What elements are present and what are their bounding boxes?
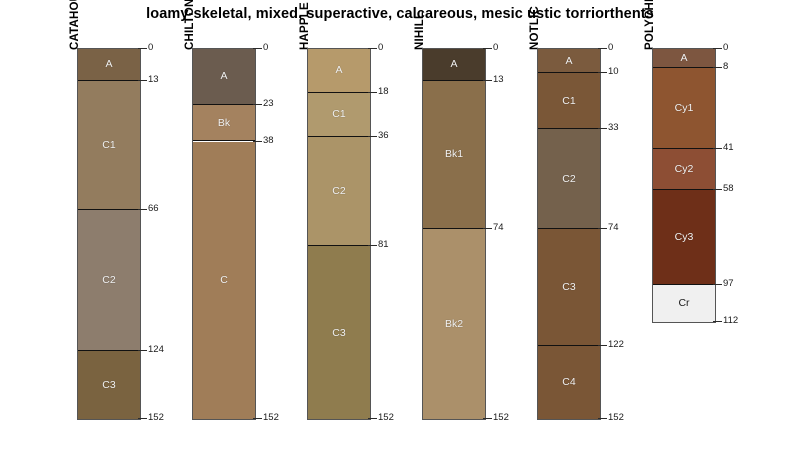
horizon-label: A [105,58,112,70]
depth-tick-label: 10 [608,66,619,77]
depth-tick [368,418,377,419]
depth-tick [598,345,607,346]
profile-name-label: HAPPLE [299,2,311,50]
horizon-cy2[interactable]: Cy2 [653,149,715,190]
depth-tick [368,136,377,137]
depth-tick [368,92,377,93]
depth-tick-label: 152 [608,412,624,423]
depth-tick [253,48,262,49]
horizon-a[interactable]: A [538,49,600,73]
depth-tick-label: 0 [723,42,728,53]
depth-tick-label: 97 [723,278,734,289]
depth-tick-label: 13 [493,74,504,85]
profile-name-label: NOTLIC [529,6,541,50]
depth-tick [713,284,722,285]
profile-column: ABk1Bk2 [422,48,486,420]
horizon-label: C2 [102,274,115,286]
horizon-label: C3 [102,379,115,391]
depth-tick [138,350,147,351]
depth-tick-label: 8 [723,61,728,72]
depth-tick-label: 0 [148,42,153,53]
depth-tick-label: 152 [263,412,279,423]
profile-name-label: POLYCHROME [644,0,656,50]
horizon-c[interactable]: C [193,142,255,420]
depth-tick-label: 74 [493,222,504,233]
horizon-label: A [680,52,687,64]
depth-tick-label: 122 [608,339,624,350]
depth-tick [713,148,722,149]
horizon-a[interactable]: A [423,49,485,81]
depth-tick [598,418,607,419]
horizon-label: C3 [332,327,345,339]
depth-tick-label: 112 [723,315,738,326]
depth-tick [483,228,492,229]
horizon-c2[interactable]: C2 [78,210,140,351]
depth-tick-label: 0 [493,42,498,53]
horizon-label: C4 [562,376,575,388]
horizon-label: C [220,274,228,286]
horizon-bk[interactable]: Bk [193,105,255,142]
depth-tick-label: 0 [263,42,268,53]
horizon-label: C2 [562,173,575,185]
depth-tick-label: 41 [723,142,734,153]
depth-tick-label: 23 [263,98,274,109]
profile-column: ABkC [192,48,256,420]
horizon-label: Bk2 [445,318,463,330]
depth-tick-label: 81 [378,239,389,250]
depth-tick-label: 36 [378,130,389,141]
horizon-label: C3 [562,281,575,293]
depth-tick-label: 66 [148,203,159,214]
profile-column: AC1C2C3 [77,48,141,420]
depth-tick-label: 74 [608,222,619,233]
profile-name-label: NIHILL [414,12,426,50]
depth-tick [138,80,147,81]
profile-name-label: CHILTON [184,0,196,50]
depth-tick [713,189,722,190]
depth-tick [253,141,262,142]
depth-tick-label: 124 [148,344,164,355]
horizon-label: Cy3 [675,231,694,243]
depth-tick [713,67,722,68]
depth-tick-label: 38 [263,135,274,146]
depth-tick-label: 0 [608,42,613,53]
depth-tick [598,228,607,229]
horizon-a[interactable]: A [308,49,370,93]
depth-tick [368,48,377,49]
horizon-label: C1 [102,139,115,151]
depth-tick-label: 33 [608,122,619,133]
horizon-c3[interactable]: C3 [538,229,600,346]
depth-tick [713,48,722,49]
horizon-label: Bk [218,117,230,129]
horizon-label: A [335,64,342,76]
depth-tick [138,418,147,419]
depth-tick [483,80,492,81]
profile-column: ACy1Cy2Cy3Cr [652,48,716,323]
horizon-cy3[interactable]: Cy3 [653,190,715,285]
depth-tick-label: 58 [723,183,734,194]
horizon-bk1[interactable]: Bk1 [423,81,485,229]
horizon-cy1[interactable]: Cy1 [653,68,715,148]
depth-tick [368,245,377,246]
depth-tick [253,418,262,419]
horizon-label: C2 [332,185,345,197]
depth-tick [138,48,147,49]
depth-tick [598,128,607,129]
horizon-label: A [565,55,572,67]
horizon-c1[interactable]: C1 [538,73,600,129]
horizon-label: Cy2 [675,163,694,175]
depth-tick [598,72,607,73]
profile-name-label: CATAHOULA [69,0,81,50]
depth-tick-label: 18 [378,86,389,97]
horizon-label: Cy1 [675,102,694,114]
horizon-label: A [220,70,227,82]
horizon-label: C1 [332,108,345,120]
horizon-a[interactable]: A [78,49,140,81]
horizon-label: A [450,58,457,70]
soil-profile-chart: loamy-skeletal, mixed, superactive, calc… [0,0,800,450]
profile-column: AC1C2C3 [307,48,371,420]
depth-tick-label: 152 [148,412,164,423]
horizon-label: Cr [678,297,689,309]
horizon-bk2[interactable]: Bk2 [423,229,485,419]
horizon-a[interactable]: A [193,49,255,105]
horizon-c1[interactable]: C1 [78,81,140,210]
horizon-c4[interactable]: C4 [538,346,600,419]
horizon-cr[interactable]: Cr [653,285,715,322]
depth-tick [138,209,147,210]
depth-tick [483,418,492,419]
depth-tick-label: 13 [148,74,159,85]
horizon-c1[interactable]: C1 [308,93,370,137]
depth-tick [713,321,722,322]
depth-tick-label: 0 [378,42,383,53]
horizon-c2[interactable]: C2 [538,129,600,229]
horizon-c3[interactable]: C3 [308,246,370,419]
depth-tick [253,104,262,105]
horizon-label: Bk1 [445,148,463,160]
profile-column: AC1C2C3C4 [537,48,601,420]
depth-tick-label: 152 [378,412,394,423]
depth-tick [483,48,492,49]
depth-tick-label: 152 [493,412,509,423]
horizon-label: C1 [562,95,575,107]
chart-title: loamy-skeletal, mixed, superactive, calc… [0,6,800,22]
horizon-c3[interactable]: C3 [78,351,140,419]
depth-tick [598,48,607,49]
horizon-a[interactable]: A [653,49,715,68]
horizon-c2[interactable]: C2 [308,137,370,247]
